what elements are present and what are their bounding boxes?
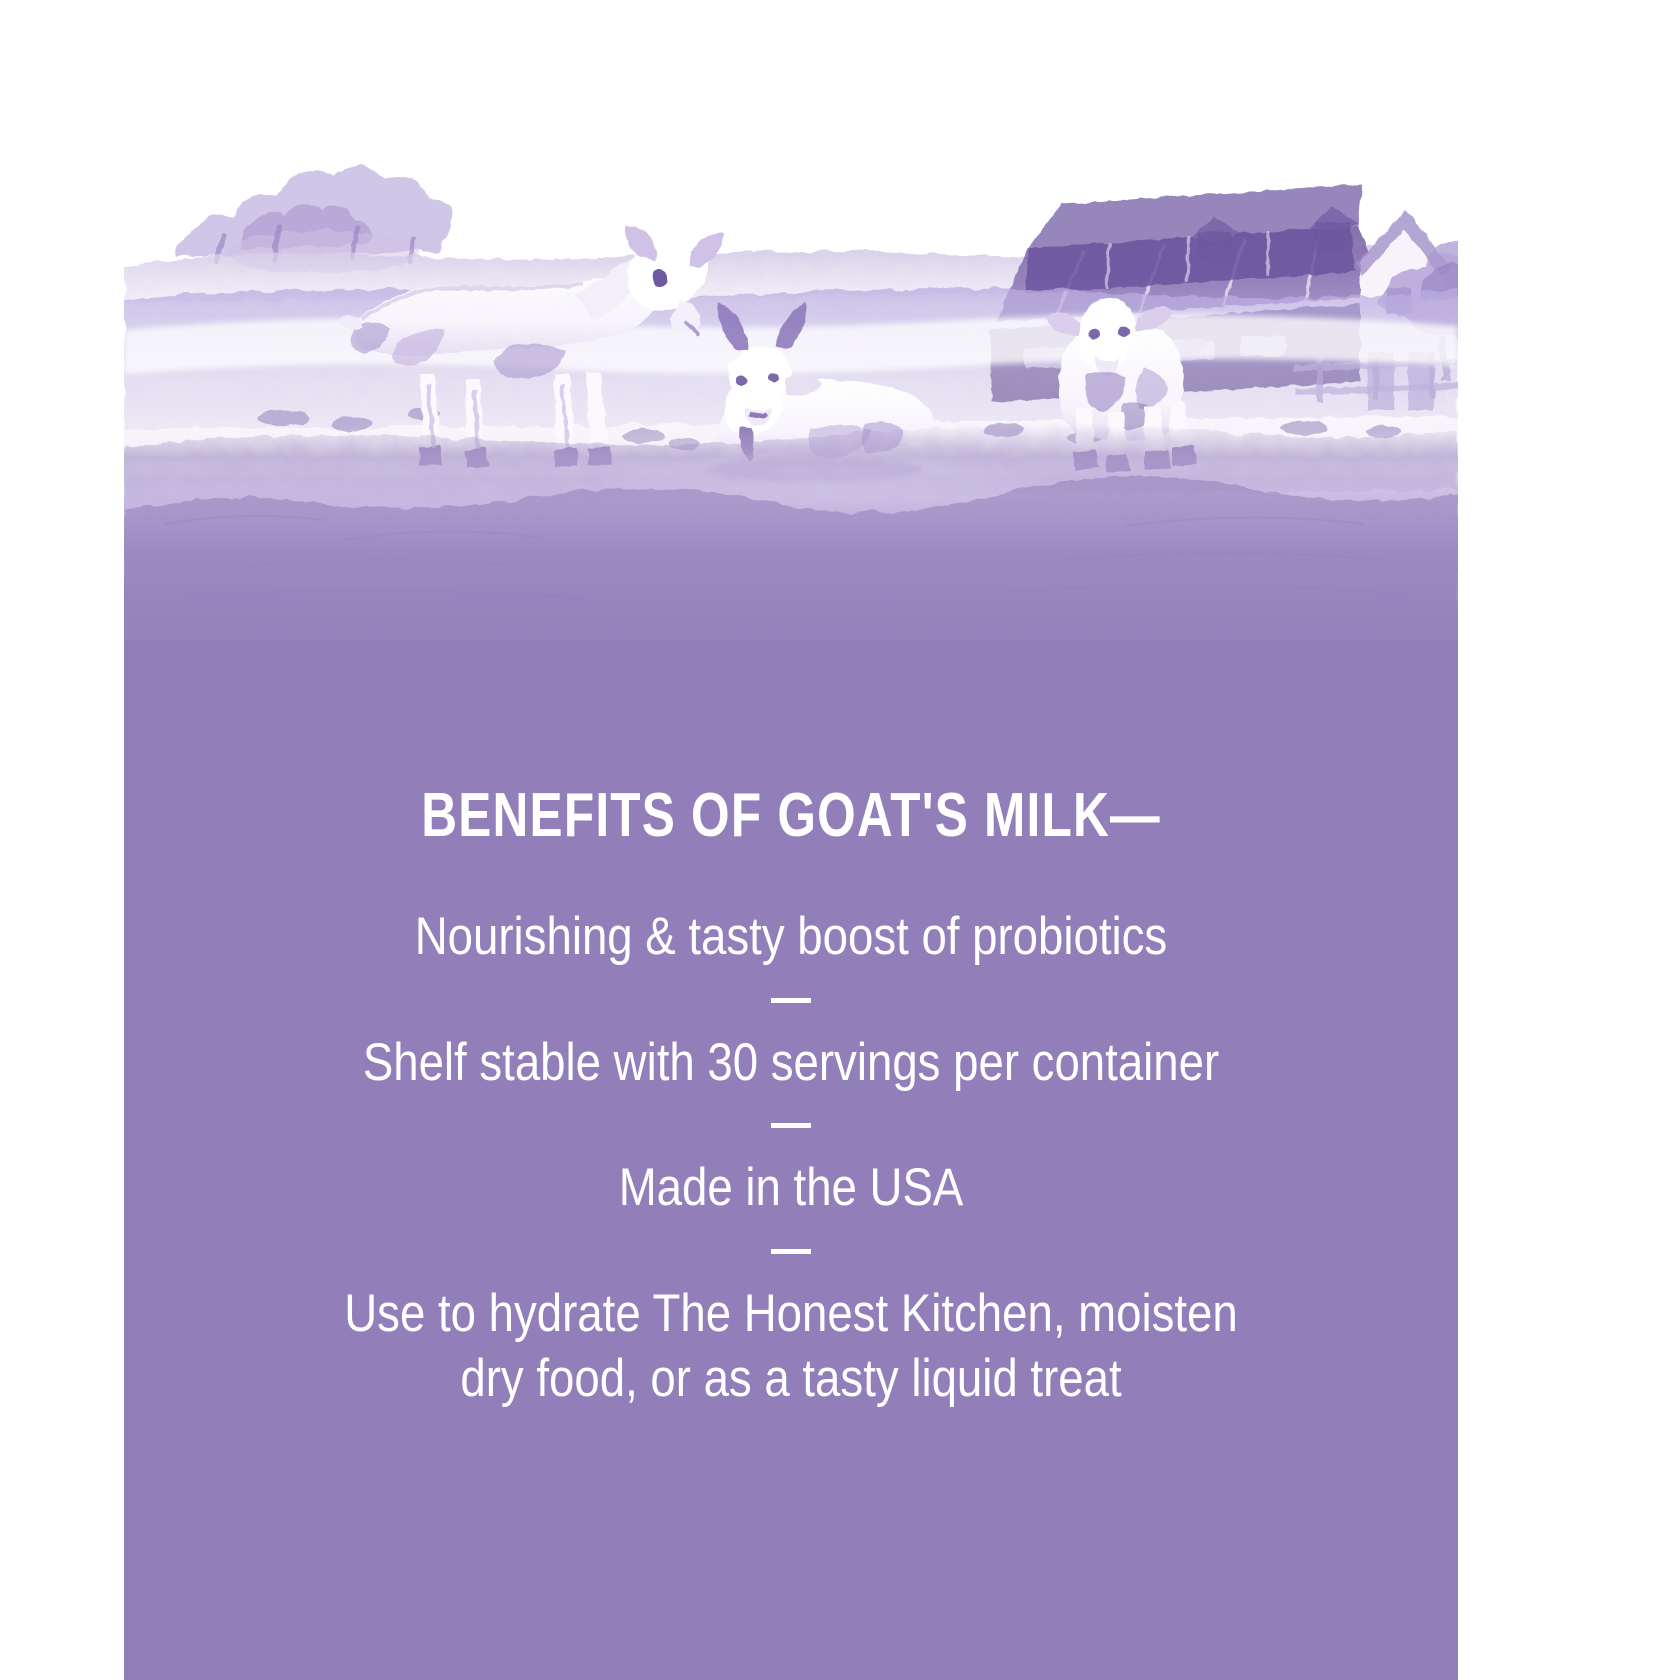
page-title: BENEFITS OF GOAT'S MILK— — [257, 640, 1324, 847]
benefit-item-4: Use to hydrate The Honest Kitchen, moist… — [217, 1282, 1364, 1411]
benefits-content: BENEFITS OF GOAT'S MILK— Nourishing & ta… — [124, 640, 1458, 1680]
benefit-item-3: Made in the USA — [217, 1156, 1364, 1221]
watercolor-goat-farm-illustration — [124, 0, 1458, 700]
panel: BENEFITS OF GOAT'S MILK— Nourishing & ta… — [124, 0, 1458, 1680]
benefit-item-2: Shelf stable with 30 servings per contai… — [217, 1031, 1364, 1096]
benefit-divider-3 — [771, 1249, 811, 1254]
product-benefits-panel: BENEFITS OF GOAT'S MILK— Nourishing & ta… — [0, 0, 1680, 1680]
benefit-item-1: Nourishing & tasty boost of probiotics — [217, 905, 1364, 970]
benefit-divider-1 — [771, 998, 811, 1003]
benefit-divider-2 — [771, 1123, 811, 1128]
benefits-list: Nourishing & tasty boost of probiotics S… — [124, 905, 1458, 1411]
